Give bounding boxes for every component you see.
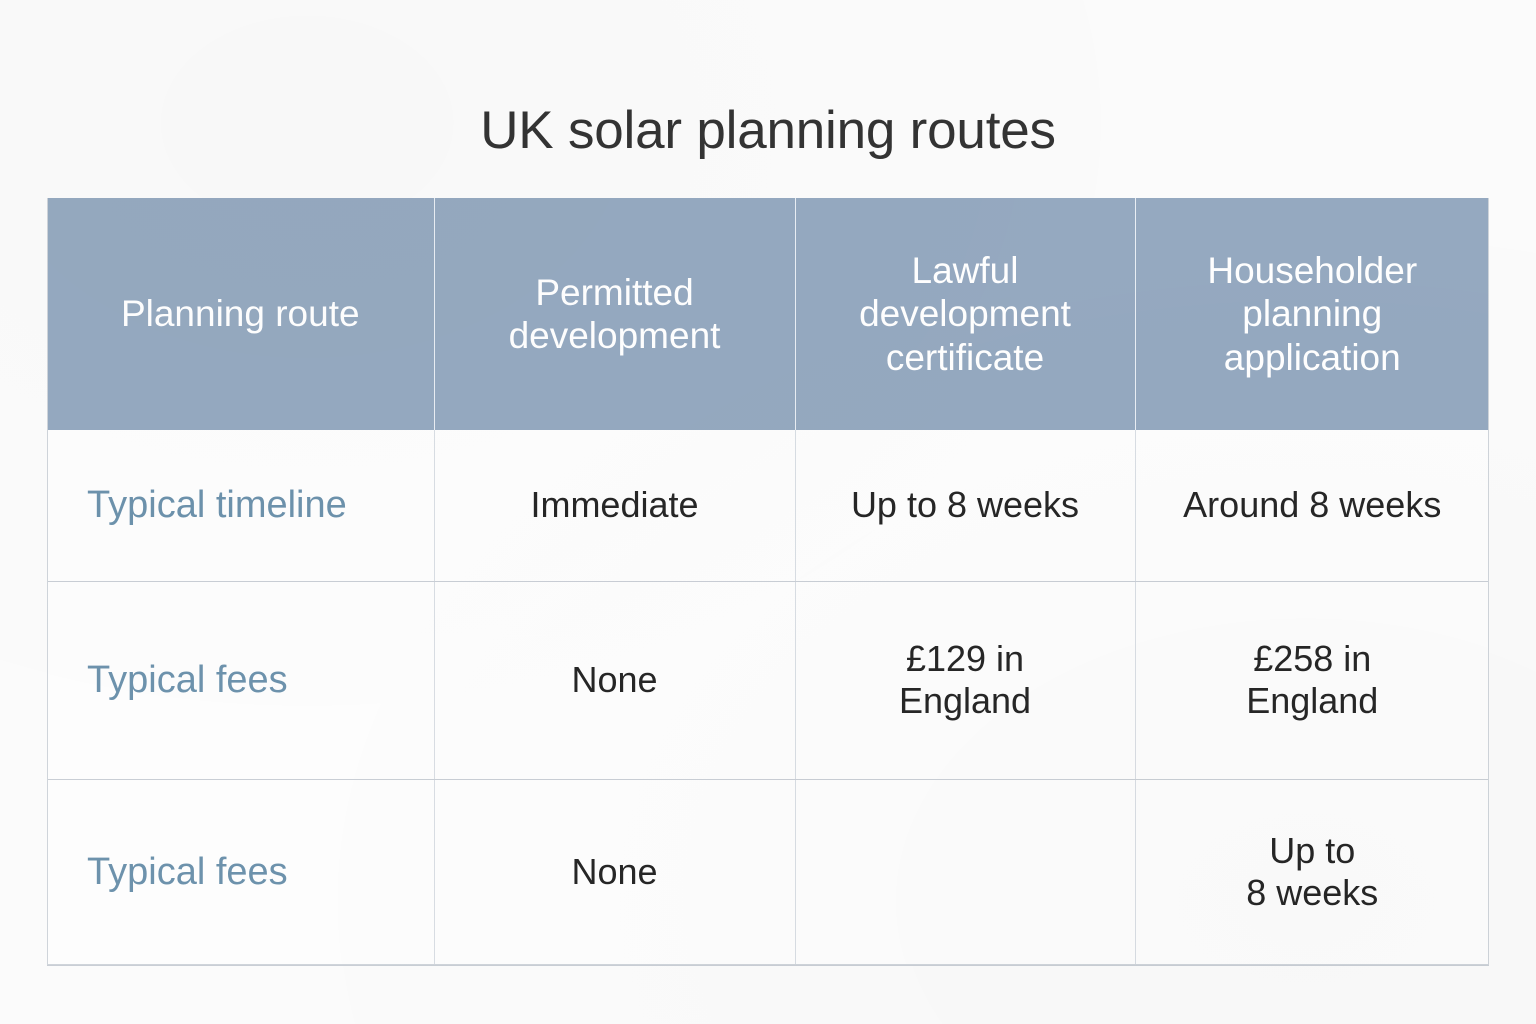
cell-line: None	[449, 659, 781, 701]
cell-fees2-householder-planning-application: Up to 8 weeks	[1135, 779, 1489, 965]
table-row: Typical fees None £129 in England £258 i…	[47, 581, 1489, 779]
cell-timeline-permitted-development: Immediate	[434, 430, 795, 581]
table-body: Typical timeline Immediate Up to 8 weeks…	[47, 430, 1489, 965]
planning-routes-table: Planning route Permitted development Law…	[47, 198, 1489, 966]
row-label-typical-fees: Typical fees	[47, 581, 434, 779]
cell-line: Up to 8 weeks	[810, 484, 1121, 526]
cell-timeline-lawful-development-certificate: Up to 8 weeks	[795, 430, 1135, 581]
table-header-row: Planning route Permitted development Law…	[47, 198, 1489, 430]
table-row: Typical fees None Up to 8 weeks	[47, 779, 1489, 965]
row-label-typical-timeline: Typical timeline	[47, 430, 434, 581]
table-header: Planning route Permitted development Law…	[47, 198, 1489, 430]
row-label-typical-fees-2: Typical fees	[47, 779, 434, 965]
column-header-permitted-development: Permitted development	[434, 198, 795, 430]
column-header-householder-planning-application: Householder planning application	[1135, 198, 1489, 430]
table-row: Typical timeline Immediate Up to 8 weeks…	[47, 430, 1489, 581]
column-header-planning-route: Planning route	[47, 198, 434, 430]
cell-line: Up to	[1150, 830, 1476, 872]
column-header-lawful-development-certificate: Lawful development certificate	[795, 198, 1135, 430]
cell-fees-householder-planning-application: £258 in England	[1135, 581, 1489, 779]
cell-line: England	[1150, 680, 1476, 722]
cell-line: Around 8 weeks	[1150, 484, 1476, 526]
routes-table-container: Planning route Permitted development Law…	[47, 198, 1489, 965]
page-title: UK solar planning routes	[0, 102, 1536, 160]
cell-line: 8 weeks	[1150, 872, 1476, 914]
cell-line: £129 in	[810, 638, 1121, 680]
cell-fees-permitted-development: None	[434, 581, 795, 779]
cell-line: None	[449, 851, 781, 893]
cell-fees2-lawful-development-certificate	[795, 779, 1135, 965]
cell-fees-lawful-development-certificate: £129 in England	[795, 581, 1135, 779]
cell-fees2-permitted-development: None	[434, 779, 795, 965]
cell-timeline-householder-planning-application: Around 8 weeks	[1135, 430, 1489, 581]
cell-line: Immediate	[449, 484, 781, 526]
cell-line: £258 in	[1150, 638, 1476, 680]
cell-line: England	[810, 680, 1121, 722]
